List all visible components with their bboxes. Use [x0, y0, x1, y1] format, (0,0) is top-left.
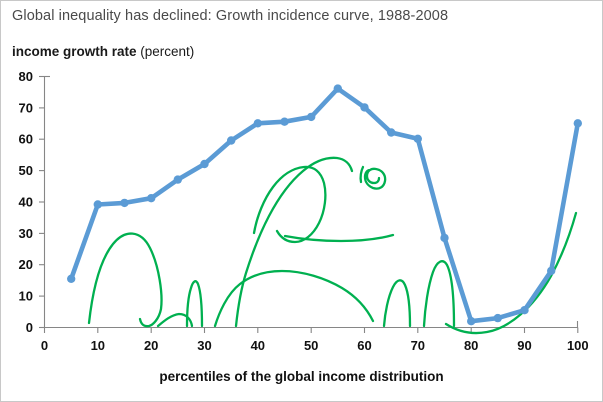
elephant-front-leg-back [384, 280, 410, 326]
data-point-p45[interactable] [280, 118, 288, 126]
y-tick-group [39, 77, 45, 328]
y-tick-label-group: 0 10 20 30 40 50 60 70 80 [19, 69, 33, 335]
elephant-belly-line [215, 271, 373, 326]
x-tick-label-group: 0 10 20 30 40 50 60 70 80 90 100 [41, 338, 589, 353]
data-point-p95[interactable] [547, 267, 555, 275]
data-point-p5[interactable] [67, 275, 75, 283]
x-tick-label-90: 90 [517, 338, 531, 353]
y-tick-label-30: 30 [19, 226, 33, 241]
data-point-p15[interactable] [120, 199, 128, 207]
x-tick-label-10: 10 [91, 338, 105, 353]
data-point-p65[interactable] [387, 128, 395, 136]
elephant-ear-outline [254, 167, 325, 242]
data-point-p25[interactable] [174, 175, 182, 183]
data-point-p40[interactable] [254, 119, 262, 127]
x-axis-title: percentiles of the global income distrib… [1, 369, 602, 384]
x-tick-label-0: 0 [41, 338, 48, 353]
y-tick-label-0: 0 [26, 320, 33, 335]
y-tick-label-70: 70 [19, 100, 33, 115]
x-tick-label-70: 70 [411, 338, 425, 353]
x-tick-label-100: 100 [567, 338, 589, 353]
data-point-p85[interactable] [494, 314, 502, 322]
x-tick-label-30: 30 [197, 338, 211, 353]
data-point-p75[interactable] [440, 234, 448, 242]
x-tick-label-60: 60 [357, 338, 371, 353]
data-point-p60[interactable] [360, 103, 368, 111]
x-tick-label-80: 80 [464, 338, 478, 353]
data-point-p90[interactable] [520, 306, 528, 314]
elephant-front-leg-front [424, 261, 454, 326]
y-tick-label-50: 50 [19, 163, 33, 178]
data-point-p10[interactable] [94, 200, 102, 208]
y-tick-label-10: 10 [19, 289, 33, 304]
elephant-eye-spiral [365, 169, 385, 189]
y-tick-label-60: 60 [19, 132, 33, 147]
elephant-body-outline [89, 234, 162, 327]
x-tick-label-20: 20 [144, 338, 158, 353]
x-tick-label-40: 40 [251, 338, 265, 353]
data-point-p55[interactable] [334, 84, 342, 92]
y-tick-label-40: 40 [19, 195, 33, 210]
data-point-p80[interactable] [467, 317, 475, 325]
data-point-p20[interactable] [147, 194, 155, 202]
elephant-eye-lash [361, 167, 363, 182]
y-tick-label-80: 80 [19, 69, 33, 84]
data-point-p50[interactable] [307, 113, 315, 121]
elephant-doodle [89, 158, 576, 333]
x-tick-label-50: 50 [304, 338, 318, 353]
chart-figure: Global inequality has declined: Growth i… [0, 0, 603, 402]
plot-area: 0 10 20 30 40 50 60 70 80 0 10 20 [1, 1, 603, 402]
data-point-p30[interactable] [200, 160, 208, 168]
data-point-p70[interactable] [414, 135, 422, 143]
data-point-p35[interactable] [227, 136, 235, 144]
data-point-p100[interactable] [574, 119, 582, 127]
y-tick-label-20: 20 [19, 257, 33, 272]
